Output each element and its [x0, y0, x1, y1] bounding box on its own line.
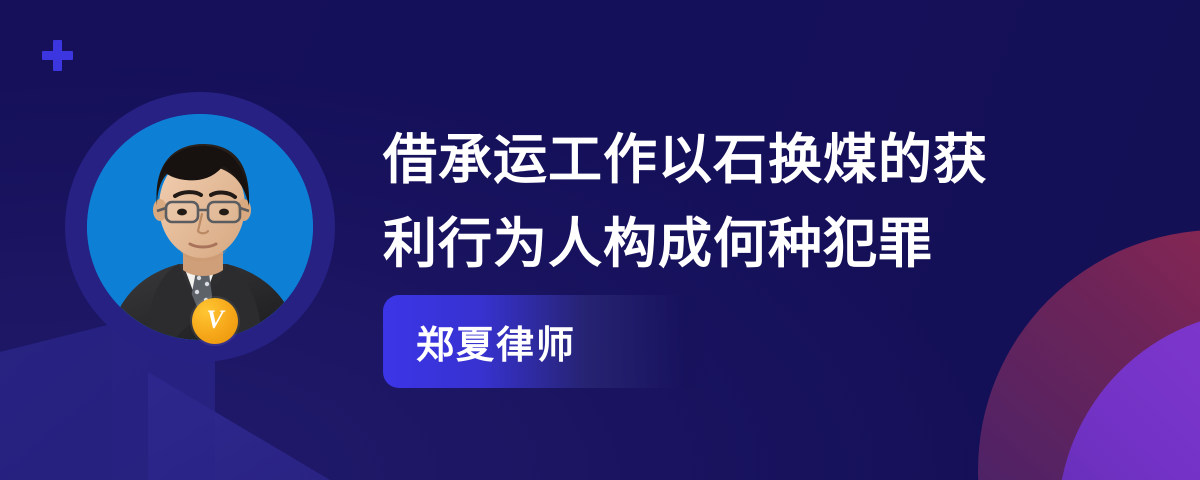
headline-line-1: 借承运工作以石换煤的获	[383, 118, 1083, 202]
verify-glyph: V	[206, 307, 223, 333]
page-title: 借承运工作以石换煤的获 利行为人构成何种犯罪	[383, 118, 1083, 286]
headline-line-2: 利行为人构成何种犯罪	[383, 202, 1083, 286]
verified-v-icon: V	[192, 298, 238, 344]
lawyer-course-banner: V 借承运工作以石换煤的获 利行为人构成何种犯罪 郑夏律师	[0, 0, 1200, 480]
speaker-name-label: 郑夏律师	[383, 314, 576, 369]
plus-icon	[42, 40, 73, 71]
speaker-name-badge[interactable]: 郑夏律师	[383, 295, 711, 388]
content-block: 借承运工作以石换煤的获 利行为人构成何种犯罪 郑夏律师	[383, 118, 1083, 286]
